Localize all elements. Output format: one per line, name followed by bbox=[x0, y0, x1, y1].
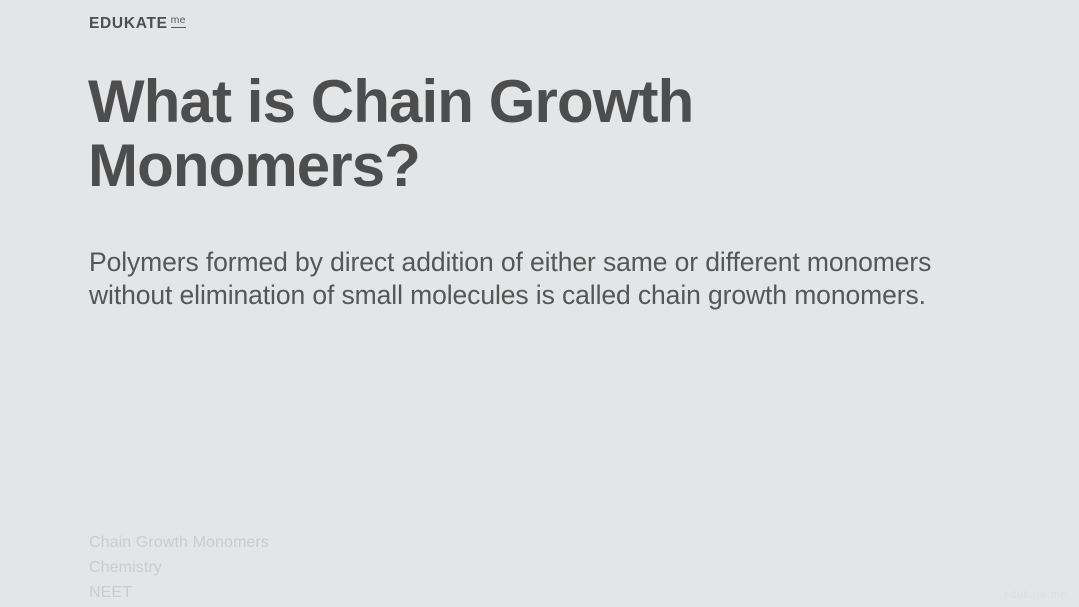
footer-meta-topic: Chain Growth Monomers bbox=[89, 534, 269, 553]
brand-logo: EDUKATE me bbox=[89, 16, 186, 32]
brand-logo-superscript-text: me bbox=[171, 15, 186, 26]
footer-meta-exam: NEET bbox=[89, 584, 269, 603]
brand-logo-superscript: me bbox=[171, 15, 186, 28]
corner-watermark: edukate.me bbox=[1004, 589, 1067, 601]
brand-logo-name: EDUKATE bbox=[89, 16, 168, 32]
brand-logo-underline bbox=[171, 27, 186, 29]
slide-title: What is Chain Growth Monomers? bbox=[88, 70, 988, 197]
slide-body-text: Polymers formed by direct addition of ei… bbox=[89, 246, 989, 313]
footer-meta-subject: Chemistry bbox=[89, 559, 269, 578]
footer-metadata: Chain Growth Monomers Chemistry NEET bbox=[89, 534, 269, 603]
slide-canvas: EDUKATE me What is Chain Growth Monomers… bbox=[0, 0, 1079, 607]
